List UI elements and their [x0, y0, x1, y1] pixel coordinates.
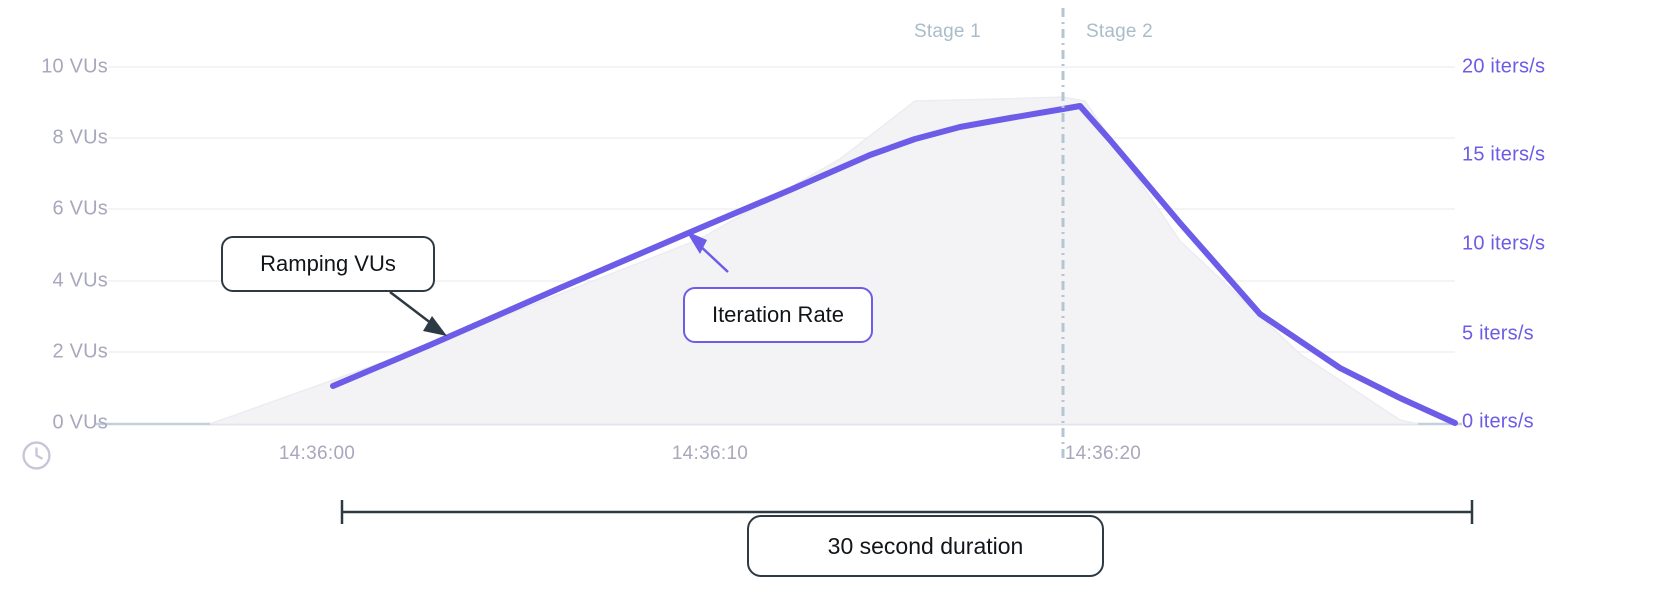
callout-iteration-rate-label: Iteration Rate	[712, 302, 844, 328]
stage-label-1: Stage 1	[914, 21, 981, 43]
y-left-tick-0: 0 VUs	[53, 412, 108, 435]
callout-duration[interactable]: 30 second duration	[747, 515, 1104, 577]
x-tick-0: 14:36:00	[279, 443, 355, 465]
y-right-tick-20: 20 iters/s	[1462, 56, 1545, 79]
callout-ramping-vus[interactable]: Ramping VUs	[221, 236, 435, 292]
y-right-tick-15: 15 iters/s	[1462, 144, 1545, 167]
callout-duration-label: 30 second duration	[828, 533, 1024, 560]
y-axis-left: 10 VUs 8 VUs 6 VUs 4 VUs 2 VUs 0 VUs	[0, 0, 108, 600]
y-left-tick-4: 4 VUs	[53, 270, 108, 293]
chart-canvas: 10 VUs 8 VUs 6 VUs 4 VUs 2 VUs 0 VUs 20 …	[0, 0, 1656, 600]
callout-iteration-rate[interactable]: Iteration Rate	[683, 287, 873, 343]
y-right-tick-5: 5 iters/s	[1462, 323, 1534, 346]
y-left-tick-10: 10 VUs	[41, 56, 108, 79]
y-left-tick-6: 6 VUs	[53, 198, 108, 221]
clock-icon	[21, 440, 52, 471]
stage-label-2: Stage 2	[1086, 21, 1153, 43]
callout-ramping-vus-label: Ramping VUs	[260, 251, 396, 277]
y-right-tick-0: 0 iters/s	[1462, 411, 1534, 434]
y-right-tick-10: 10 iters/s	[1462, 233, 1545, 256]
y-left-tick-8: 8 VUs	[53, 127, 108, 150]
ramping-vus-arrow	[390, 292, 447, 336]
y-axis-right: 20 iters/s 15 iters/s 10 iters/s 5 iters…	[1462, 0, 1656, 600]
y-left-tick-2: 2 VUs	[53, 341, 108, 364]
x-tick-2: 14:36:20	[1065, 443, 1141, 465]
x-tick-1: 14:36:10	[672, 443, 748, 465]
